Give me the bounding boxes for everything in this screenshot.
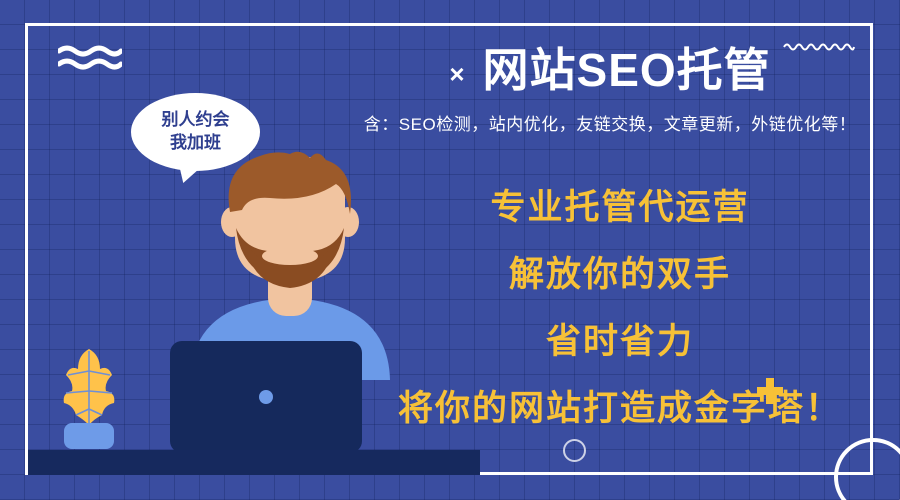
desk-surface	[28, 450, 480, 475]
plant-pot	[64, 423, 114, 449]
plant-illustration	[56, 345, 122, 453]
speech-bubble-line-1: 别人约会	[162, 109, 230, 132]
speech-bubble-line-2: 我加班	[170, 132, 221, 155]
seo-hosting-poster: × 网站SEO托管 含：SEO检测，站内优化，友链交换，文章更新，外链优化等！ …	[0, 0, 900, 500]
laptop-logo-dot	[259, 390, 273, 404]
x-mark-icon: ×	[449, 61, 464, 87]
slogan-line: 将你的网站打造成金字塔！	[370, 391, 870, 426]
circle-outline-icon	[833, 437, 900, 500]
wave-thick-icon	[58, 44, 122, 72]
slogan-list: 专业托管代运营 解放你的双手 省时省力 将你的网站打造成金字塔！	[370, 190, 870, 426]
speech-bubble: 别人约会 我加班	[131, 93, 260, 171]
mouth-shape	[262, 247, 318, 265]
laptop	[170, 341, 362, 453]
slogan-line: 省时省力	[370, 324, 870, 359]
headline-block: × 网站SEO托管 含：SEO检测，站内优化，友链交换，文章更新，外链优化等！	[330, 46, 890, 135]
small-circle-icon	[563, 439, 586, 462]
page-subtitle: 含：SEO检测，站内优化，友链交换，文章更新，外链优化等！	[330, 110, 890, 135]
page-title: 网站SEO托管	[483, 46, 771, 94]
title-row: × 网站SEO托管	[330, 46, 890, 94]
slogan-line: 专业托管代运营	[370, 190, 870, 225]
slogan-line: 解放你的双手	[370, 257, 870, 292]
